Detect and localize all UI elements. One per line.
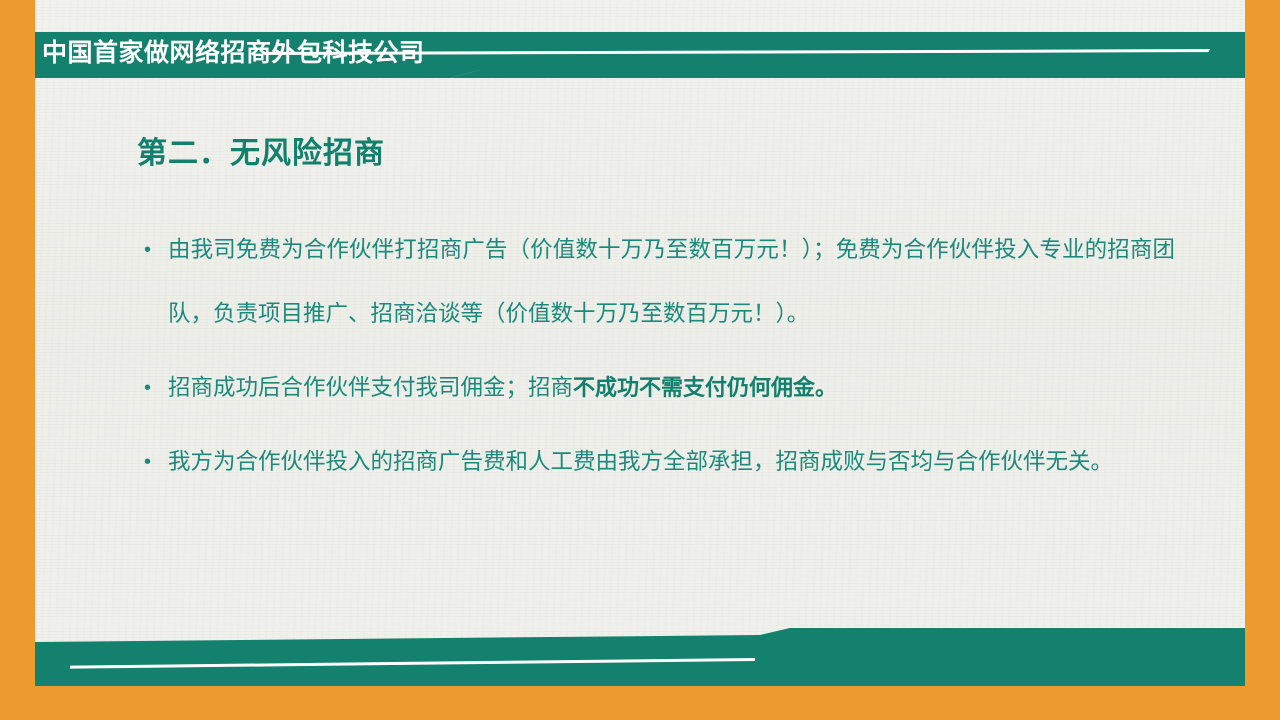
bullet-point-icon: • xyxy=(144,218,162,282)
list-item-text: 由我司免费为合作伙伴打招商广告（价值数十万乃至数百万元！）；免费为合作伙伴投入专… xyxy=(168,218,1175,346)
slide-canvas: 第二．无风险招商 • 由我司免费为合作伙伴打招商广告（价值数十万乃至数百万元！）… xyxy=(0,0,1280,720)
bullet-point-icon: • xyxy=(144,430,162,494)
list-item-text: 招商成功后合作伙伴支付我司佣金；招商不成功不需支付仍何佣金。 xyxy=(168,356,1175,420)
list-item: • 我方为合作伙伴投入的招商广告费和人工费由我方全部承担，招商成败与否均与合作伙… xyxy=(140,430,1175,494)
bullet-list: • 由我司免费为合作伙伴打招商广告（价值数十万乃至数百万元！）；免费为合作伙伴投… xyxy=(140,218,1175,504)
page-title: 第二．无风险招商 xyxy=(137,128,385,172)
list-item: • 招商成功后合作伙伴支付我司佣金；招商不成功不需支付仍何佣金。 xyxy=(140,356,1175,420)
list-item-text-plain: 招商成功后合作伙伴支付我司佣金；招商 xyxy=(168,375,573,400)
left-orange-border xyxy=(0,0,35,720)
bottom-orange-border xyxy=(0,686,1280,720)
list-item-text: 我方为合作伙伴投入的招商广告费和人工费由我方全部承担，招商成败与否均与合作伙伴无… xyxy=(168,430,1175,494)
list-item: • 由我司免费为合作伙伴打招商广告（价值数十万乃至数百万元！）；免费为合作伙伴投… xyxy=(140,218,1175,346)
list-item-text-emphasis: 不成功不需支付仍何佣金。 xyxy=(573,375,837,400)
bullet-point-icon: • xyxy=(144,356,162,420)
slide-content: 第二．无风险招商 • 由我司免费为合作伙伴打招商广告（价值数十万乃至数百万元！）… xyxy=(35,100,1245,600)
right-orange-border xyxy=(1245,0,1280,720)
